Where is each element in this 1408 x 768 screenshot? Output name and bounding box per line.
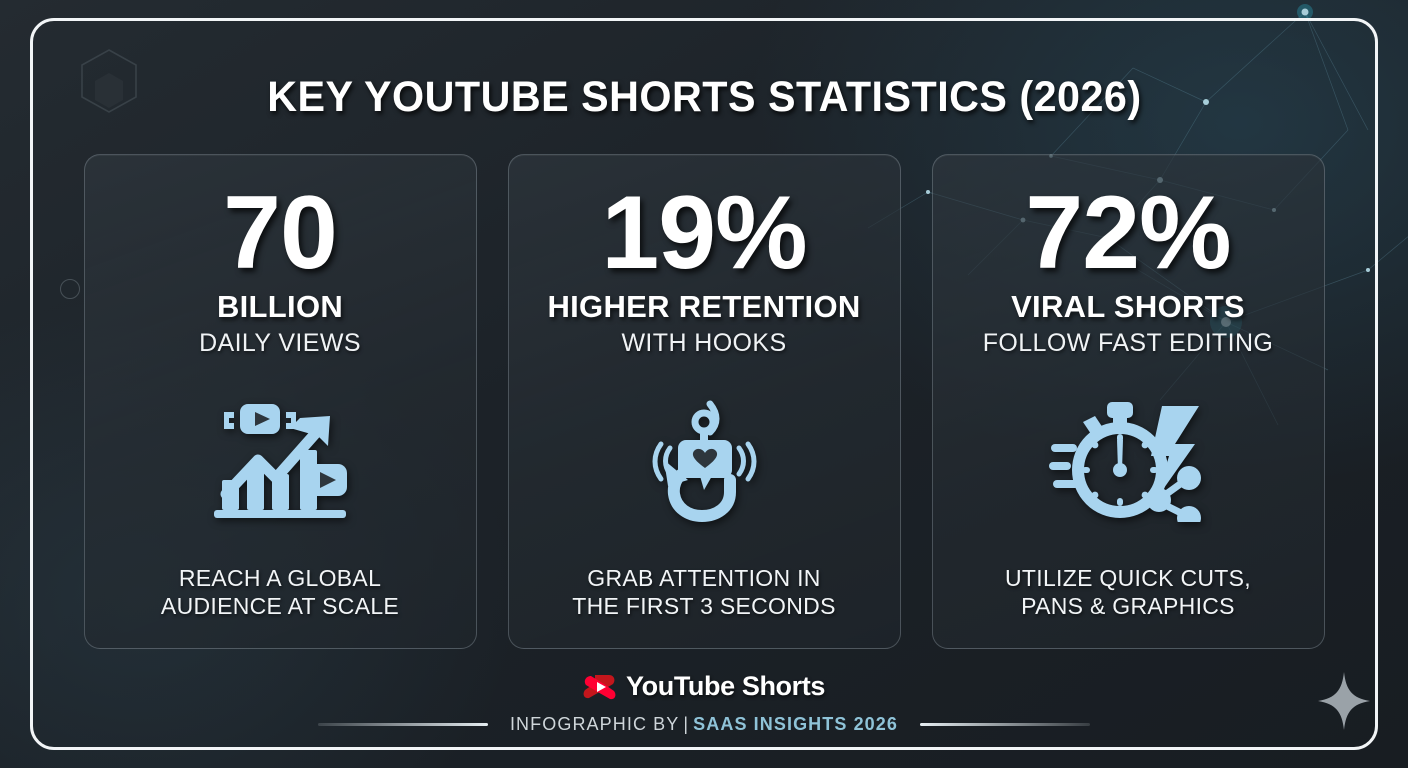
infographic-content: KEY YOUTUBE SHORTS STATISTICS (2026) 70 … [33, 21, 1375, 747]
icon-container [951, 358, 1306, 563]
stopwatch-bolt-share-icon [1049, 400, 1207, 522]
credit-row: INFOGRAPHIC BY|SAAS INSIGHTS 2026 [81, 714, 1327, 735]
card-footer-line: REACH A GLOBAL [161, 564, 399, 592]
infographic-stage: KEY YOUTUBE SHORTS STATISTICS (2026) 70 … [0, 0, 1408, 768]
stat-subtitle: FOLLOW FAST EDITING [983, 329, 1274, 358]
divider-right [920, 723, 1090, 726]
youtube-shorts-logo-icon [583, 674, 617, 700]
growth-chart-video-icon [200, 402, 360, 520]
stat-card-higher-retention[interactable]: 19% HIGHER RETENTION WITH HOOKS [508, 154, 901, 649]
stat-card-daily-views[interactable]: 70 BILLION DAILY VIEWS [84, 154, 477, 649]
credit-text: INFOGRAPHIC BY|SAAS INSIGHTS 2026 [510, 714, 898, 735]
stat-label: HIGHER RETENTION [547, 291, 860, 324]
card-footer-line: AUDIENCE AT SCALE [161, 592, 399, 620]
stat-label: BILLION [217, 291, 343, 324]
icon-container [527, 358, 882, 563]
stat-subtitle: DAILY VIEWS [199, 329, 361, 358]
stat-number: 70 [223, 183, 337, 285]
card-footer-line: GRAB ATTENTION IN [572, 564, 835, 592]
page-title: KEY YOUTUBE SHORTS STATISTICS (2026) [267, 73, 1141, 122]
card-footer-text: GRAB ATTENTION IN THE FIRST 3 SECONDS [572, 564, 835, 624]
card-footer-text: REACH A GLOBAL AUDIENCE AT SCALE [161, 564, 399, 624]
card-footer-text: UTILIZE QUICK CUTS, PANS & GRAPHICS [1005, 564, 1251, 624]
stat-number: 72% [1025, 183, 1230, 285]
credit-prefix: INFOGRAPHIC BY [510, 714, 679, 734]
credit-source: SAAS INSIGHTS 2026 [693, 714, 898, 734]
stat-number: 19% [601, 183, 806, 285]
divider-left [318, 723, 488, 726]
fish-hook-heart-icon [638, 400, 770, 522]
stat-card-viral-shorts[interactable]: 72% VIRAL SHORTS FOLLOW FAST EDITING [932, 154, 1325, 649]
stat-label: VIRAL SHORTS [1011, 291, 1245, 324]
youtube-shorts-brand: YouTube Shorts [583, 671, 825, 702]
card-footer-line: UTILIZE QUICK CUTS, [1005, 564, 1251, 592]
card-footer-line: PANS & GRAPHICS [1005, 592, 1251, 620]
stat-cards-row: 70 BILLION DAILY VIEWS [81, 154, 1327, 649]
stat-subtitle: WITH HOOKS [621, 329, 786, 358]
credit-separator: | [683, 714, 689, 734]
icon-container [103, 358, 458, 563]
card-footer-line: THE FIRST 3 SECONDS [572, 592, 835, 620]
brand-name: YouTube Shorts [626, 671, 825, 702]
